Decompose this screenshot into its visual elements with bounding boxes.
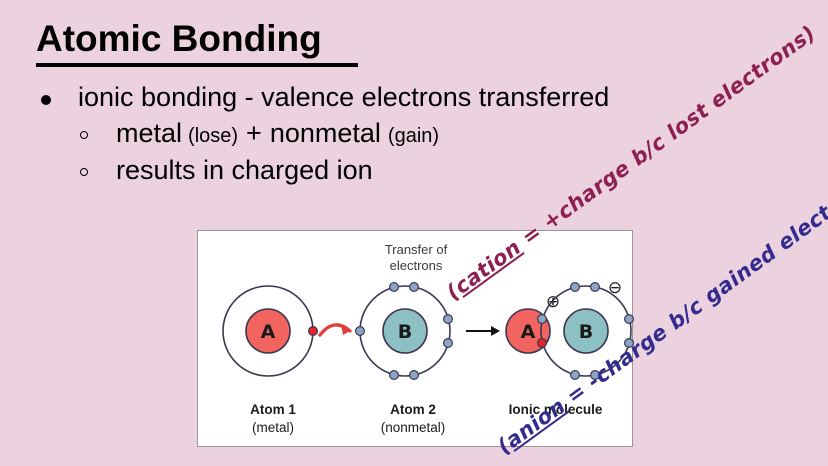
atom1-caption: Atom 1 (metal) [208, 401, 338, 436]
atom2-symbol-label: B [398, 321, 412, 343]
atom1-caption-sub: (metal) [208, 419, 338, 437]
ion-b-transferred-electron [538, 339, 547, 348]
atom2-caption-sub: (nonmetal) [343, 419, 483, 437]
reaction-arrow-head [491, 326, 500, 336]
bullet-text-metal: metal [116, 118, 182, 148]
ion-b-symbol-label: B [579, 321, 593, 343]
bullet-dot-icon [41, 95, 51, 105]
bullet-text-lose: (lose) [188, 125, 238, 147]
atom1-caption-name: Atom 1 [208, 401, 338, 419]
ion-a-symbol-label: A [521, 321, 536, 343]
slide-canvas: Atomic Bonding ionic bonding - valence e… [0, 0, 828, 466]
bullet-item-level1: ionic bonding - valence electrons transf… [36, 82, 796, 113]
atom1-symbol-label: A [261, 321, 276, 343]
atom2-caption: Atom 2 (nonmetal) [343, 401, 483, 436]
atom2-caption-name: Atom 2 [343, 401, 483, 419]
atom1-valence-electron [309, 327, 318, 336]
title-underline [36, 63, 358, 67]
bullet-item-charged-ion: results in charged ion [36, 155, 796, 187]
bullet-ring-icon [80, 131, 88, 139]
negative-charge-icon: ⊖ [608, 278, 622, 298]
bullet-ring-icon [80, 168, 88, 176]
page-title: Atomic Bonding [36, 19, 322, 60]
bullet-text-level1: ionic bonding - valence electrons transf… [78, 82, 609, 112]
bullet-text-gain: (gain) [388, 125, 439, 147]
bullet-text-plus: + [246, 118, 262, 148]
bullet-text-charged-ion: results in charged ion [116, 155, 373, 185]
bullet-text-nonmetal: nonmetal [270, 118, 381, 148]
